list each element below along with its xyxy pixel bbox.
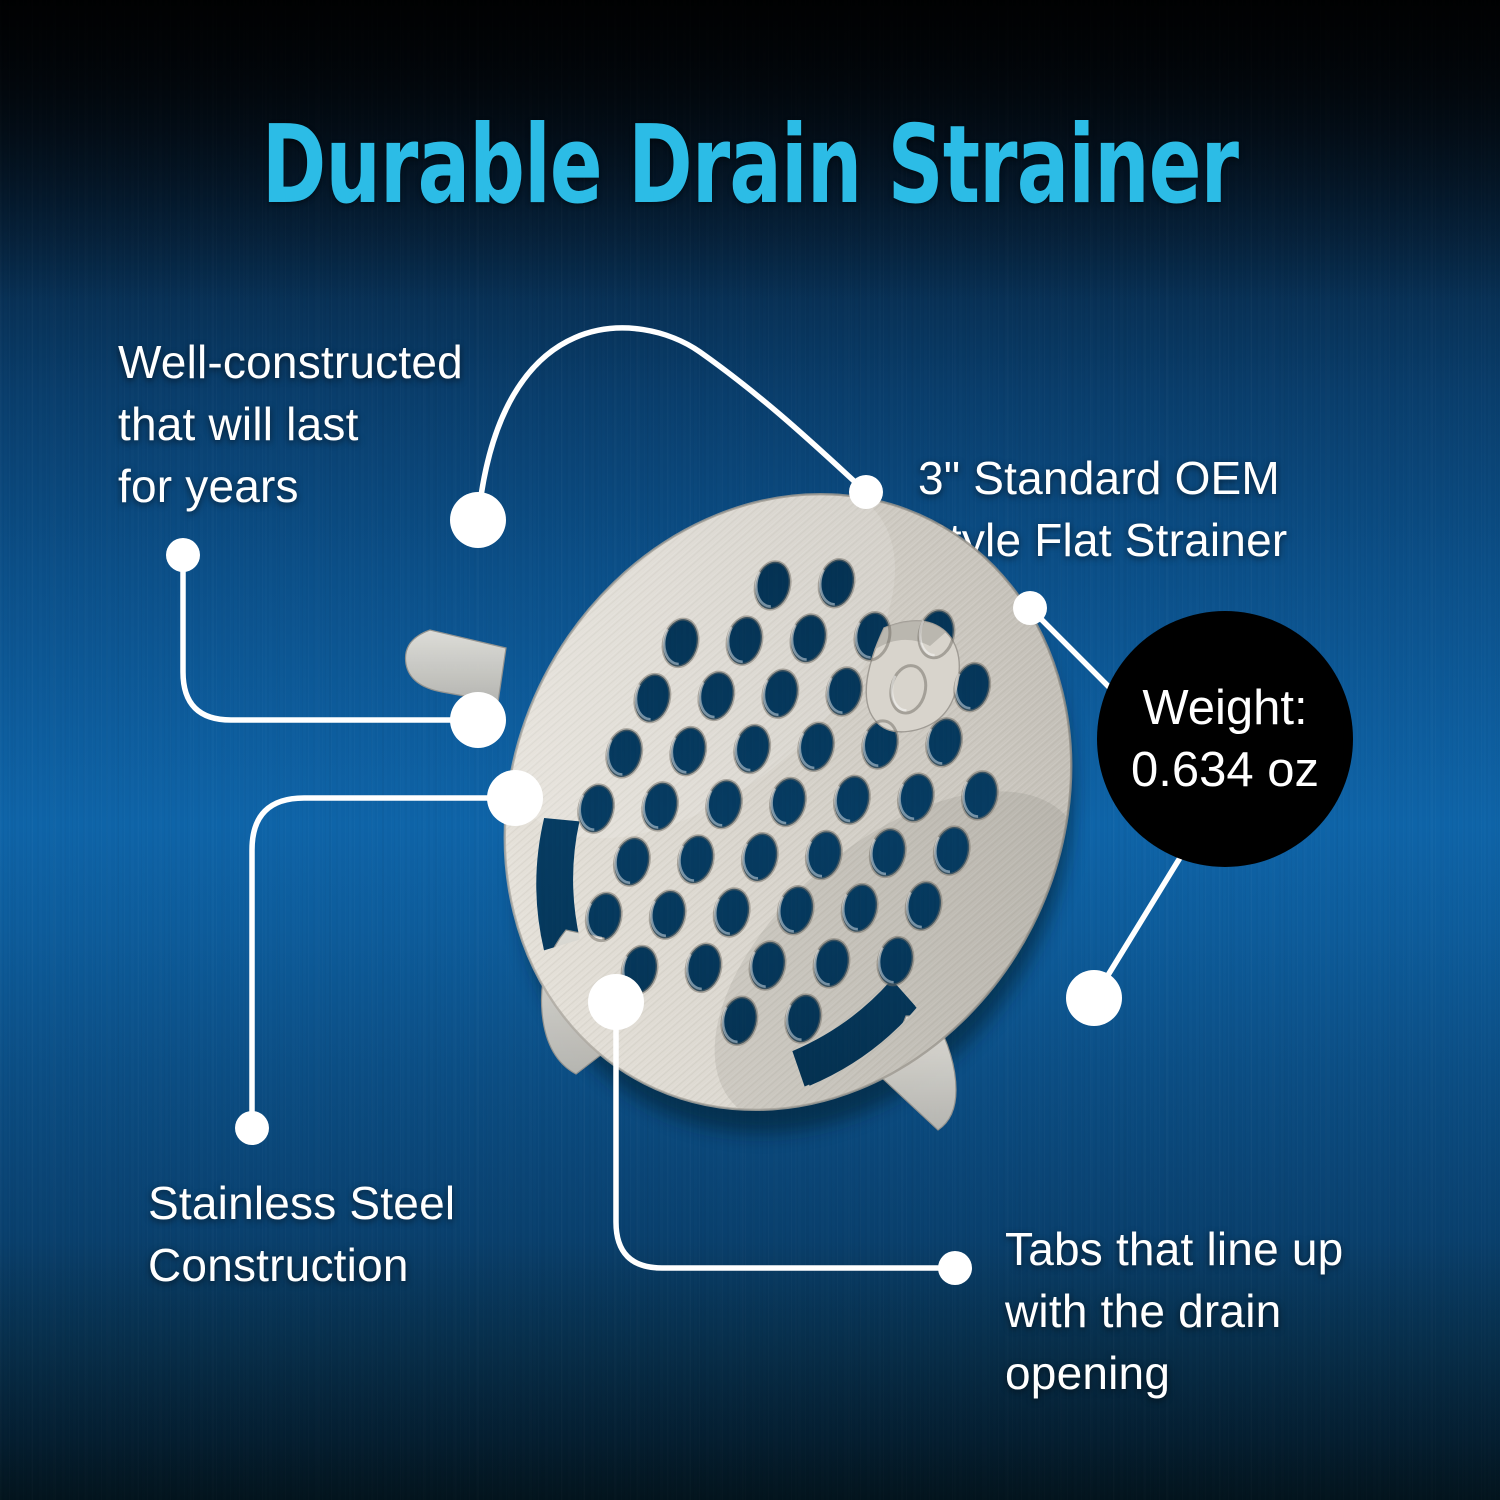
dot-well-constructed-label[interactable]: [166, 538, 200, 572]
dot-strainer-right[interactable]: [1066, 970, 1122, 1026]
dot-strainer-lower-left[interactable]: [487, 770, 543, 826]
dot-strainer-top-left[interactable]: [450, 492, 506, 548]
infographic-canvas: Durable Drain Strainer Well-constructed …: [0, 0, 1500, 1500]
dot-oem-label[interactable]: [849, 475, 883, 509]
dot-strainer-bottom[interactable]: [588, 974, 644, 1030]
dot-strainer-left[interactable]: [450, 692, 506, 748]
dot-weight-label[interactable]: [1013, 591, 1047, 625]
dot-stainless-label[interactable]: [235, 1111, 269, 1145]
dot-tabs-label[interactable]: [938, 1251, 972, 1285]
callout-dots: [0, 0, 1500, 1500]
